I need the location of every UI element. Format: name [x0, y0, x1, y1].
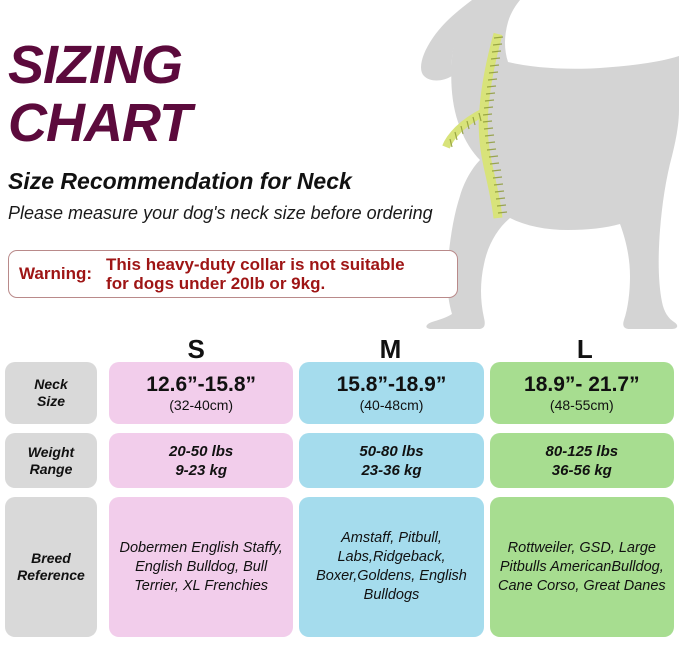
cell-neck-size-l: 18.9”- 21.7” (48-55cm): [490, 362, 674, 424]
warning-message-line2: for dogs under 20lb or 9kg.: [106, 274, 405, 293]
cell-neck-size-m: 15.8”-18.9” (40-48cm): [299, 362, 483, 424]
neck-size-s-cm: (32-40cm): [169, 397, 233, 414]
column-header-m: M: [296, 336, 484, 362]
row-label-neck-line2: Size: [37, 393, 65, 410]
neck-size-l-inches: 18.9”- 21.7”: [524, 373, 640, 397]
weight-m-kg: 23-36 kg: [361, 461, 421, 480]
row-label-weight-line1: Weight: [28, 444, 74, 461]
page-subtitle: Size Recommendation for Neck: [8, 168, 478, 194]
cell-neck-size-s: 12.6”-15.8” (32-40cm): [109, 362, 293, 424]
neck-size-m-inches: 15.8”-18.9”: [337, 373, 447, 397]
neck-size-s-inches: 12.6”-15.8”: [146, 373, 256, 397]
table-row-weight-range: Weight Range 20-50 lbs 9-23 kg 50-80 lbs…: [0, 433, 679, 488]
row-label-breed-line2: Reference: [17, 567, 85, 584]
row-label-breed-reference: Breed Reference: [5, 497, 97, 637]
measure-instruction: Please measure your dog's neck size befo…: [8, 202, 478, 224]
weight-s-kg: 9-23 kg: [175, 461, 227, 480]
warning-box: Warning: This heavy-duty collar is not s…: [8, 250, 458, 298]
row-label-weight-range: Weight Range: [5, 433, 97, 488]
cell-breed-s: Dobermen English Staffy, English Bulldog…: [109, 497, 293, 637]
neck-size-l-cm: (48-55cm): [550, 397, 614, 414]
row-label-neck-size: Neck Size: [5, 362, 97, 424]
warning-message: This heavy-duty collar is not suitable f…: [106, 255, 405, 293]
header-block: SIZING CHART Size Recommendation for Nec…: [8, 36, 478, 224]
table-row-neck-size: Neck Size 12.6”-15.8” (32-40cm) 15.8”-18…: [0, 362, 679, 424]
column-header-s: S: [102, 336, 290, 362]
cell-weight-s: 20-50 lbs 9-23 kg: [109, 433, 293, 488]
breed-list-m: Amstaff, Pitbull, Labs,Ridgeback, Boxer,…: [305, 529, 477, 605]
sizing-table: S M L Neck Size 12.6”-15.8” (32-40cm) 15…: [0, 330, 679, 646]
row-label-weight-line2: Range: [30, 461, 73, 478]
warning-message-line1: This heavy-duty collar is not suitable: [106, 255, 405, 274]
breed-list-l: Rottweiler, GSD, Large Pitbulls American…: [496, 539, 668, 596]
cell-weight-l: 80-125 lbs 36-56 kg: [490, 433, 674, 488]
weight-s-lbs: 20-50 lbs: [169, 442, 233, 461]
cell-breed-l: Rottweiler, GSD, Large Pitbulls American…: [490, 497, 674, 637]
page-title-line2: CHART: [8, 94, 478, 152]
size-column-headers: S M L: [0, 330, 679, 362]
weight-l-lbs: 80-125 lbs: [546, 442, 619, 461]
table-row-breed-reference: Breed Reference Dobermen English Staffy,…: [0, 497, 679, 637]
row-label-breed-line1: Breed: [31, 550, 71, 567]
weight-l-kg: 36-56 kg: [552, 461, 612, 480]
page-title-line1: SIZING: [8, 36, 478, 94]
cell-weight-m: 50-80 lbs 23-36 kg: [299, 433, 483, 488]
breed-list-s: Dobermen English Staffy, English Bulldog…: [115, 539, 287, 596]
weight-m-lbs: 50-80 lbs: [359, 442, 423, 461]
row-label-neck-line1: Neck: [34, 376, 67, 393]
neck-size-m-cm: (40-48cm): [360, 397, 424, 414]
warning-label: Warning:: [19, 264, 106, 284]
cell-breed-m: Amstaff, Pitbull, Labs,Ridgeback, Boxer,…: [299, 497, 483, 637]
column-header-l: L: [491, 336, 679, 362]
